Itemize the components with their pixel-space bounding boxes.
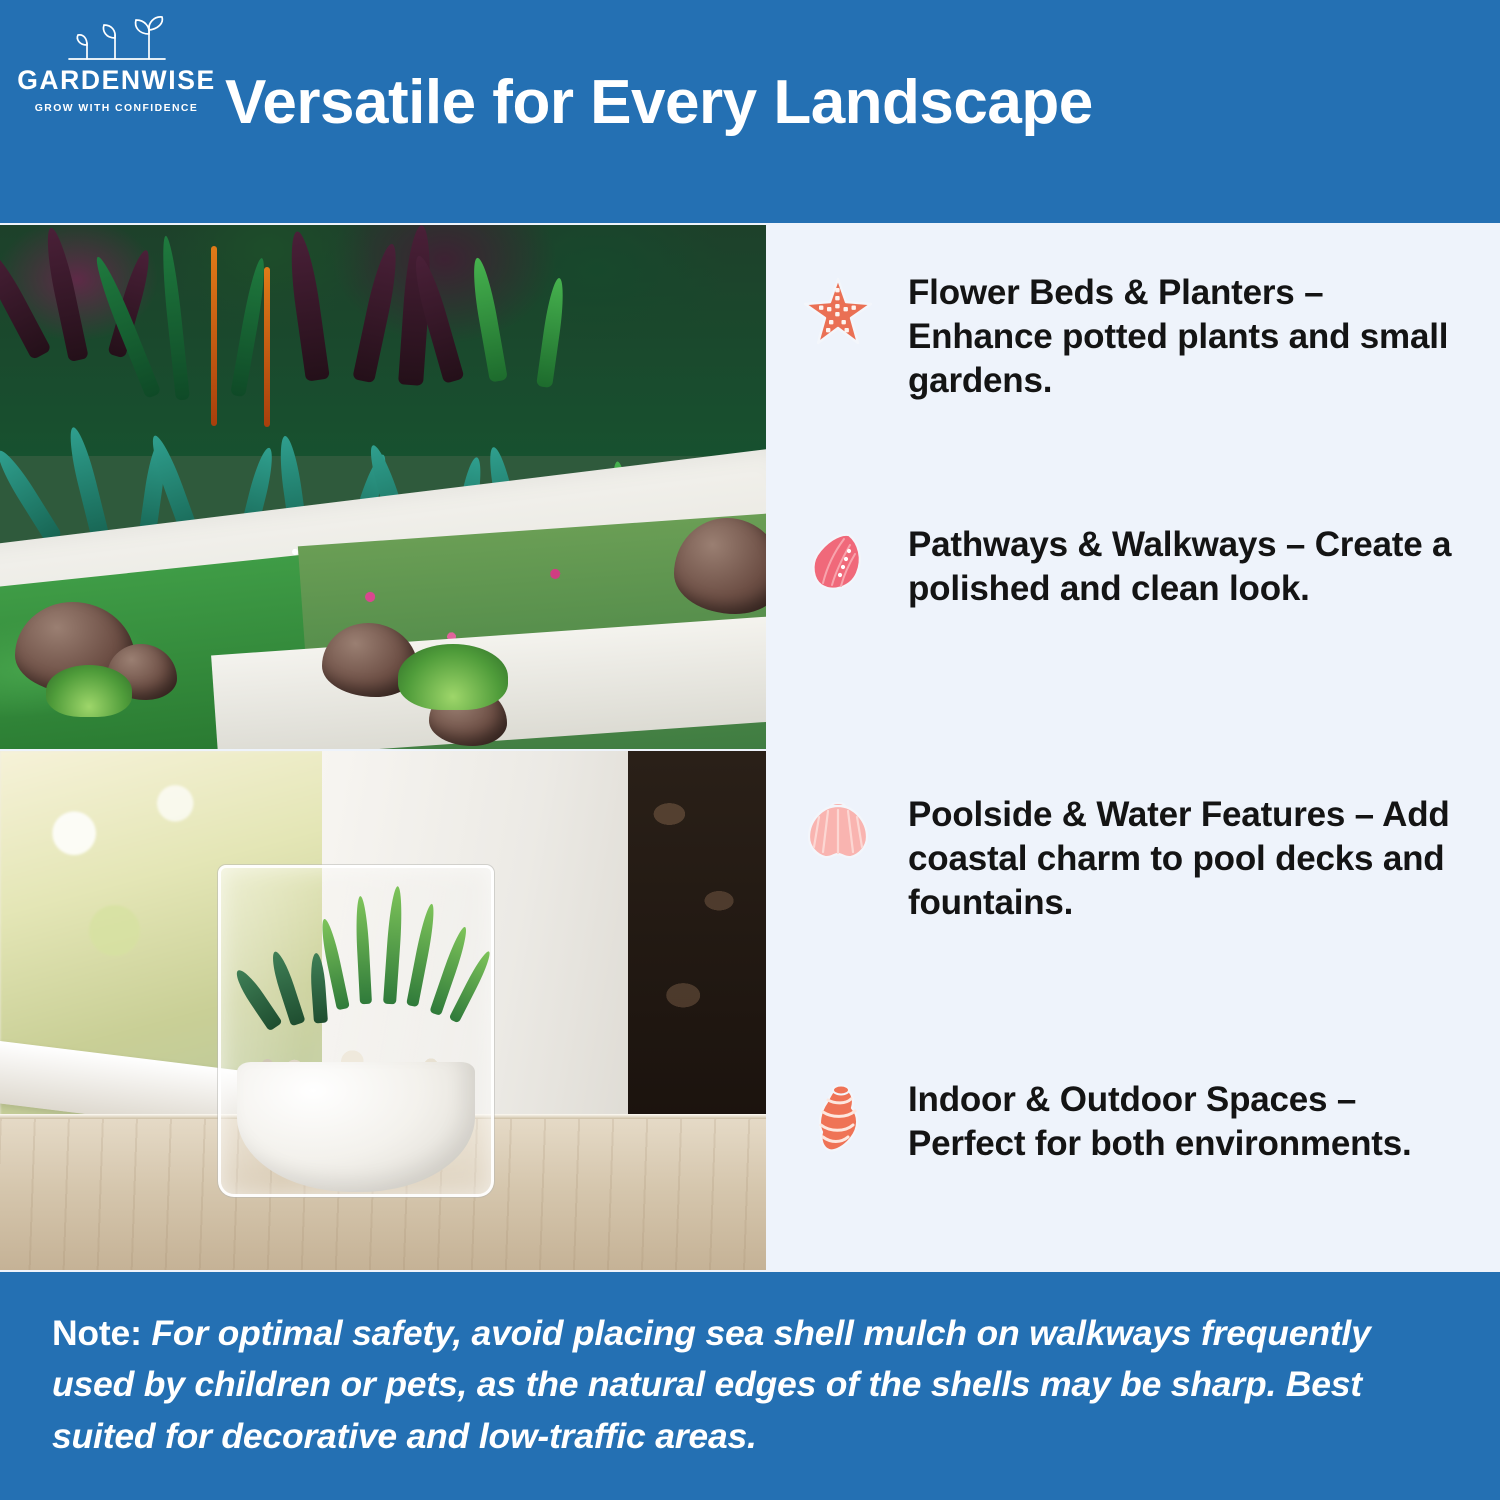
indoor-terrarium-photo: [0, 751, 766, 1270]
header-band: GARDENWISE GROW WITH CONFIDENCE Versatil…: [0, 0, 1500, 223]
feature-item-pathways: Pathways & Walkways – Create a polished …: [768, 523, 1500, 611]
brand-logo: GARDENWISE GROW WITH CONFIDENCE: [14, 12, 219, 114]
feature-item-indoor-outdoor: Indoor & Outdoor Spaces – Perfect for bo…: [768, 1078, 1500, 1166]
brand-name: GARDENWISE: [14, 67, 219, 94]
feature-list: Flower Beds & Planters – Enhance potted …: [768, 223, 1500, 1272]
feature-item-flower-beds: Flower Beds & Planters – Enhance potted …: [768, 271, 1500, 402]
note-text: For optimal safety, avoid placing sea sh…: [52, 1313, 1371, 1456]
note-label: Note:: [52, 1313, 142, 1353]
safety-note: Note: For optimal safety, avoid placing …: [52, 1308, 1452, 1462]
feature-text: Poolside & Water Features – Add coastal …: [908, 793, 1500, 924]
infographic-page: GARDENWISE GROW WITH CONFIDENCE Versatil…: [0, 0, 1500, 1500]
starfish-icon: [768, 271, 908, 349]
feature-item-poolside: Poolside & Water Features – Add coastal …: [768, 793, 1500, 924]
tropical-garden-photo: [0, 225, 766, 749]
scallop-shell-icon: [768, 793, 908, 871]
body-area: Flower Beds & Planters – Enhance potted …: [0, 223, 1500, 1272]
feature-text: Indoor & Outdoor Spaces – Perfect for bo…: [908, 1078, 1500, 1166]
feature-text: Flower Beds & Planters – Enhance potted …: [908, 271, 1500, 402]
photo-column: [0, 225, 766, 1270]
conch-shell-icon: [768, 1078, 908, 1156]
page-title: Versatile for Every Landscape: [225, 70, 1475, 135]
brand-tagline: GROW WITH CONFIDENCE: [14, 103, 219, 114]
footer-band: Note: For optimal safety, avoid placing …: [0, 1272, 1500, 1500]
clam-shell-icon: [768, 523, 908, 601]
sprouting-plants-icon: [37, 12, 197, 68]
feature-text: Pathways & Walkways – Create a polished …: [908, 523, 1500, 611]
